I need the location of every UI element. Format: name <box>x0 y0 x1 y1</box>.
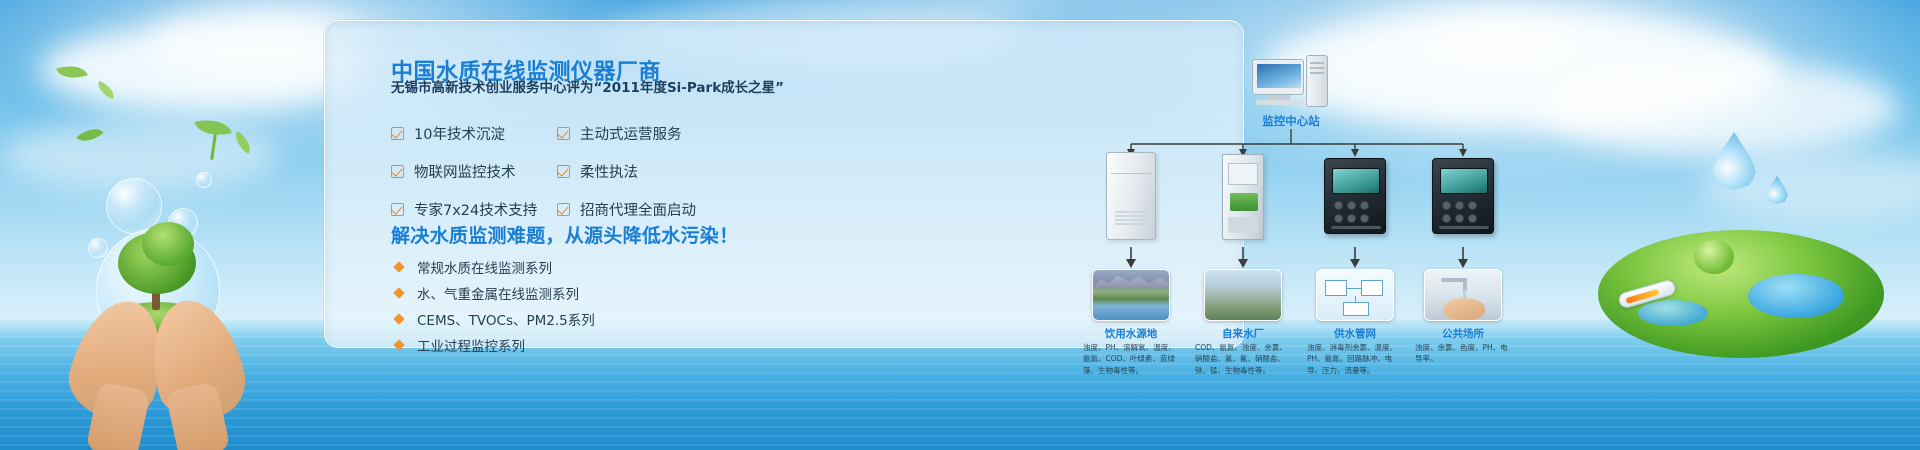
scenario-label: 饮用水源地 <box>1076 326 1186 341</box>
diagram-line <box>1355 296 1356 302</box>
checkbox-checked-icon <box>557 203 570 216</box>
feature-label: 主动式运营服务 <box>580 123 682 144</box>
feature-item[interactable]: 主动式运营服务 <box>557 120 907 146</box>
scenario-description: 浊度、PH、溶解氧、温度、氨氮、COD、叶绿素、蓝绿藻、生物毒性等。 <box>1083 342 1179 376</box>
feature-label: 招商代理全面启动 <box>580 199 696 220</box>
product-series-list: 常规水质在线监测系列 水、气重金属在线监测系列 CEMS、TVOCs、PM2.5… <box>395 256 595 360</box>
scenario-photo-water-plant[interactable] <box>1204 269 1282 321</box>
feature-list-right: 主动式运营服务 柔性执法 招商代理全面启动 <box>557 120 907 234</box>
cabinet-vent <box>1115 211 1147 225</box>
controller-keypad <box>1334 201 1378 225</box>
diagram-line <box>1347 288 1361 289</box>
globe-water <box>1748 274 1844 318</box>
checkbox-checked-icon <box>391 127 404 140</box>
diamond-bullet-icon <box>393 287 404 298</box>
globe-water-2 <box>1638 300 1708 326</box>
tree-crown-top <box>142 222 194 266</box>
diamond-bullet-icon <box>393 339 404 350</box>
device-rack-analyzer[interactable] <box>1208 152 1278 242</box>
list-item[interactable]: 工业过程监控系列 <box>395 334 595 356</box>
system-diagram: 监控中心站 <box>1080 47 1530 367</box>
cabinet-seam <box>1111 173 1151 174</box>
controller-body <box>1324 158 1386 234</box>
feature-label: 10年技术沉淀 <box>414 123 505 144</box>
cloud <box>1540 60 1900 156</box>
cabinet-body <box>1106 152 1156 240</box>
scenario-label: 供水管网 <box>1300 326 1410 341</box>
list-item-label: 常规水质在线监测系列 <box>417 257 552 277</box>
feature-item[interactable]: 柔性执法 <box>557 158 907 184</box>
feature-item[interactable]: 招商代理全面启动 <box>557 196 907 222</box>
checkbox-checked-icon <box>391 165 404 178</box>
scenario-photo-drinking-water-source[interactable] <box>1092 269 1170 321</box>
controller-strip <box>1439 226 1489 229</box>
list-item-label: 工业过程监控系列 <box>417 335 525 355</box>
scenario-label: 公共场所 <box>1408 326 1518 341</box>
monitor-icon <box>1252 59 1304 95</box>
globe-tree <box>1694 240 1734 274</box>
list-item[interactable]: 水、气重金属在线监测系列 <box>395 282 595 304</box>
monitor-screen <box>1257 64 1301 88</box>
mountain-shape <box>1093 272 1170 288</box>
list-item-label: CEMS、TVOCs、PM2.5系列 <box>417 309 595 329</box>
diagram-box <box>1361 280 1383 296</box>
page-subtitle: 无锡市高新技术创业服务中心评为“2011年度Si-Park成长之星” <box>391 76 784 96</box>
section-heading: 解决水质监测难题，从源头降低水污染！ <box>391 221 738 248</box>
device-water-cabinet[interactable] <box>1096 152 1166 242</box>
list-item[interactable]: 常规水质在线监测系列 <box>395 256 595 278</box>
feature-label: 柔性执法 <box>580 161 638 182</box>
scenario-description: 浊度、余氯、色度、PH、电导率。 <box>1415 342 1511 365</box>
controller-keypad <box>1442 201 1486 225</box>
checkbox-checked-icon <box>557 165 570 178</box>
list-item[interactable]: CEMS、TVOCs、PM2.5系列 <box>395 308 595 330</box>
hand-under-tap <box>1443 298 1485 320</box>
monitoring-center-label: 监控中心站 <box>1226 113 1356 129</box>
pc-tower-icon <box>1306 55 1328 107</box>
checkbox-checked-icon <box>557 127 570 140</box>
diamond-bullet-icon <box>393 261 404 272</box>
scenario-description: 浊度、消毒剂余氯、温度、PH、氨氮、回路脉冲、电导、压力、流量等。 <box>1307 342 1403 376</box>
monitor-base <box>1256 100 1304 105</box>
controller-lcd <box>1332 168 1380 194</box>
device-panel-controller-2[interactable] <box>1428 152 1498 242</box>
scenario-label: 自来水厂 <box>1188 326 1298 341</box>
faucet-neck <box>1463 278 1467 290</box>
controller-lcd <box>1440 168 1488 194</box>
rack-panel <box>1228 163 1258 185</box>
bubble <box>196 172 212 188</box>
diagram-box <box>1343 302 1369 316</box>
content-card: 中国水质在线监测仪器厂商 无锡市高新技术创业服务中心评为“2011年度Si-Pa… <box>324 20 1244 348</box>
bubble <box>88 238 108 258</box>
scenario-description: COD、氨氮、浊度、余氯、硝酸盐、氟、氰、硝酸盐、铁、锰、生物毒性等。 <box>1195 342 1291 376</box>
diagram-box <box>1325 280 1347 296</box>
diamond-bullet-icon <box>393 313 404 324</box>
monitoring-center-computer-icon <box>1252 55 1330 111</box>
feature-label: 物联网监控技术 <box>414 161 516 182</box>
feature-label: 专家7x24技术支持 <box>414 199 537 220</box>
controller-body <box>1432 158 1494 234</box>
checkbox-checked-icon <box>391 203 404 216</box>
rack-body <box>1222 154 1264 240</box>
scenario-photo-public-place[interactable] <box>1424 269 1502 321</box>
list-item-label: 水、气重金属在线监测系列 <box>417 283 579 303</box>
device-panel-controller[interactable] <box>1320 152 1390 242</box>
controller-strip <box>1331 226 1381 229</box>
rack-base <box>1228 217 1258 233</box>
scenario-photo-pipeline-network[interactable] <box>1316 269 1394 321</box>
rack-indicator <box>1230 193 1258 211</box>
